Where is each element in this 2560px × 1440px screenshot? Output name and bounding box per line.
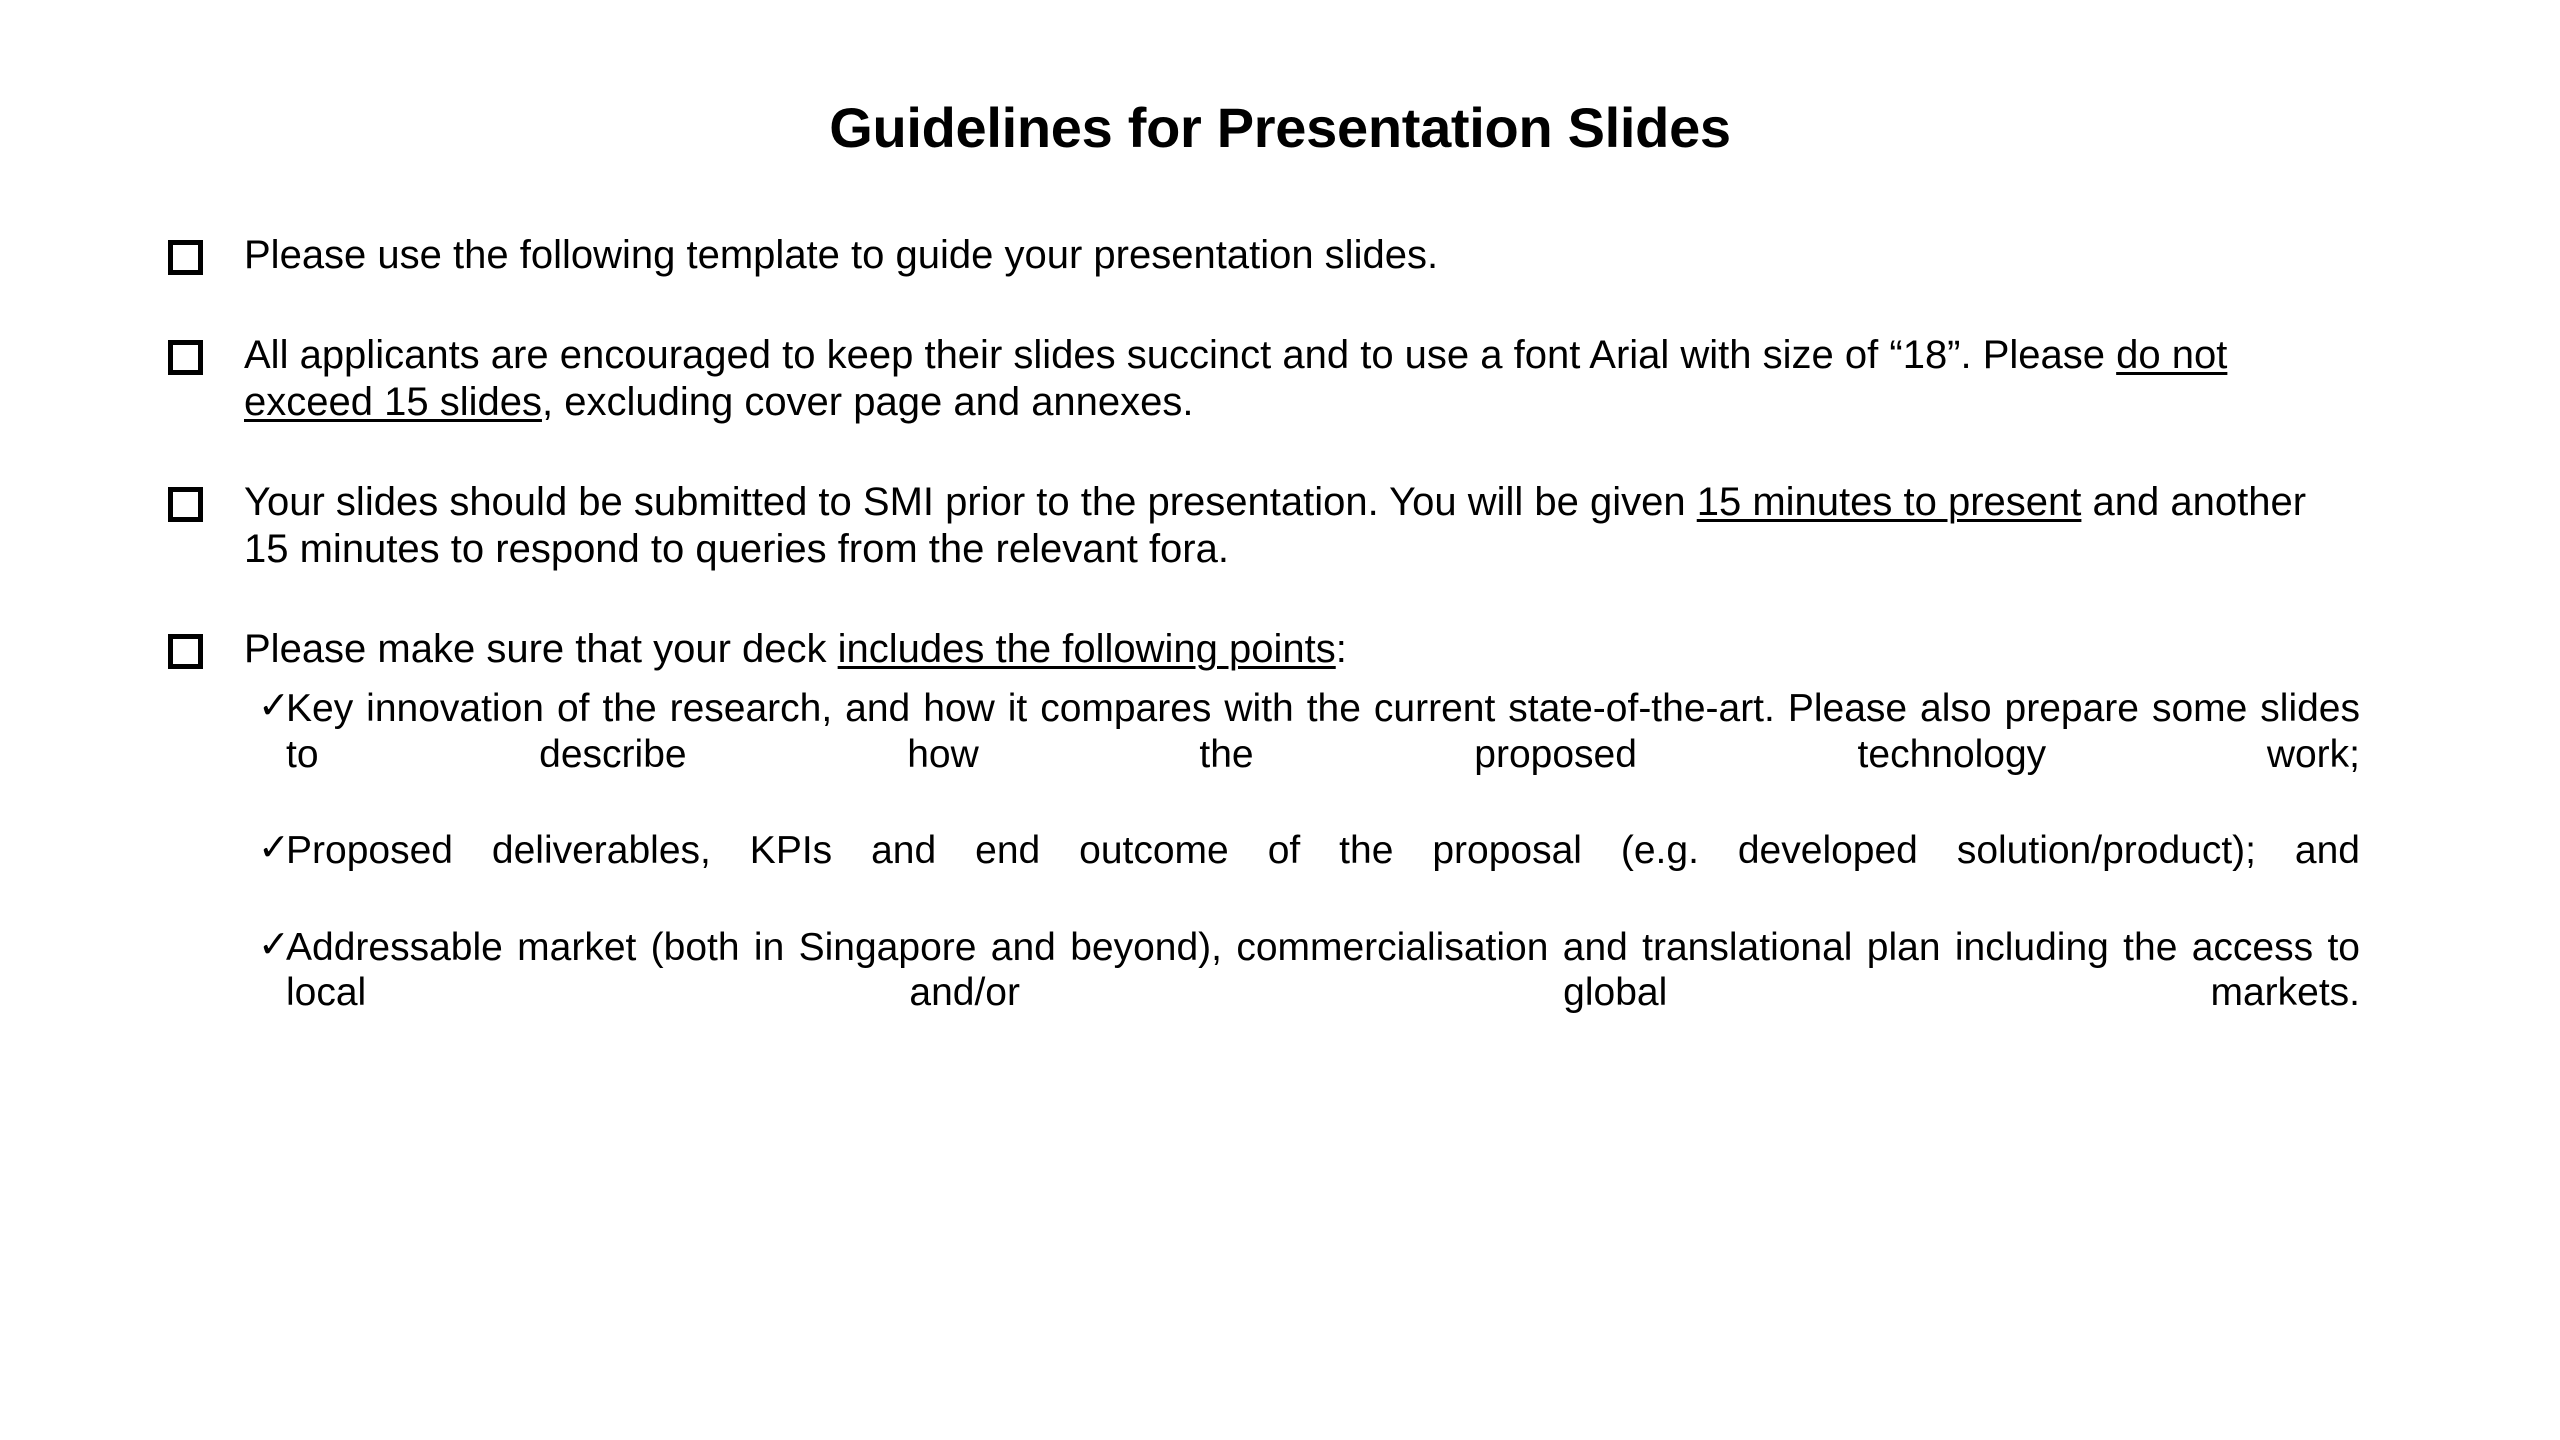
sub-bullet-text: Proposed deliverables, KPIs and end outc… (286, 829, 2360, 872)
sub-addressable-market: ✓Addressable market (both in Singapore a… (252, 925, 2360, 1061)
underlined-text-run: 15 minutes to present (1697, 480, 2082, 524)
bullet-submission-and-timing: Your slides should be submitted to SMI p… (168, 479, 2360, 572)
checkmark-bullet-icon: ✓ (258, 923, 290, 967)
hollow-square-bullet-icon (168, 340, 202, 374)
sub-bullet-text: Key innovation of the research, and how … (286, 687, 2360, 775)
presentation-slide: Guidelines for Presentation Slides Pleas… (0, 0, 2560, 1440)
bullet-template: Please use the following template to gui… (168, 232, 2360, 278)
checkmark-bullet-icon: ✓ (258, 826, 290, 870)
sub-deliverables: ✓Proposed deliverables, KPIs and end out… (252, 828, 2360, 918)
bullet-font-and-length: All applicants are encouraged to keep th… (168, 332, 2360, 425)
text-run: Please make sure that your deck (244, 627, 838, 671)
bullet-paragraph: Please use the following template to gui… (244, 232, 2360, 278)
sub-bullet-text: Addressable market (both in Singapore an… (286, 926, 2360, 1014)
bullet-square-face (168, 240, 203, 275)
text-run: : (1336, 627, 1347, 671)
bullet-square-face (168, 340, 203, 375)
underlined-text-run: includes the following points (838, 627, 1336, 671)
text-run: , excluding cover page and annexes. (542, 380, 1194, 424)
hollow-square-bullet-icon (168, 634, 202, 668)
bullet-square-face (168, 487, 203, 522)
hollow-square-bullet-icon (168, 487, 202, 521)
text-run: All applicants are encouraged to keep th… (244, 333, 2116, 377)
bullet-square-face (168, 634, 203, 669)
bullet-deck-contents: Please make sure that your deck includes… (168, 626, 2360, 1060)
checkmark-bullet-icon: ✓ (258, 684, 290, 728)
bullet-paragraph: All applicants are encouraged to keep th… (244, 332, 2360, 425)
slide-body: Please use the following template to gui… (168, 232, 2360, 1066)
sub-bullet-list: ✓Key innovation of the research, and how… (244, 686, 2360, 1060)
page-title: Guidelines for Presentation Slides (0, 96, 2560, 160)
hollow-square-bullet-icon (168, 240, 202, 274)
bullet-paragraph: Your slides should be submitted to SMI p… (244, 479, 2360, 572)
sub-key-innovation: ✓Key innovation of the research, and how… (252, 686, 2360, 822)
bullet-paragraph: Please make sure that your deck includes… (244, 626, 2360, 672)
text-run: Your slides should be submitted to SMI p… (244, 480, 1697, 524)
text-run: Please use the following template to gui… (244, 233, 1438, 277)
